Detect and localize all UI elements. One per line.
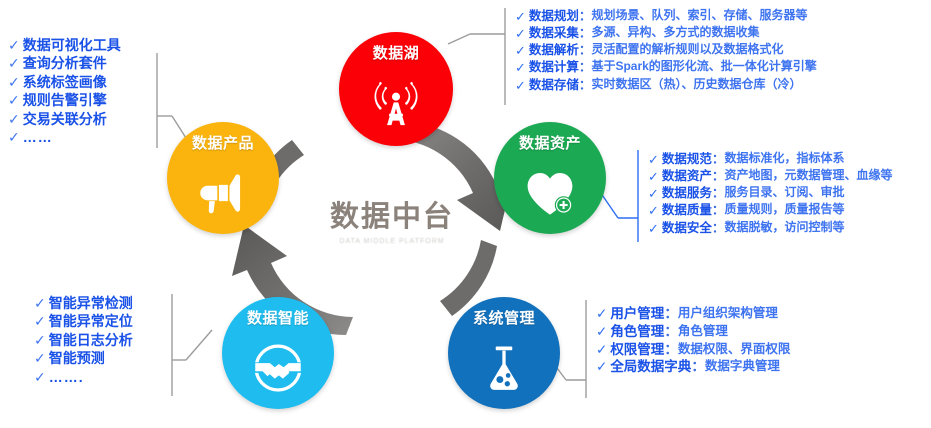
check-icon: ✓	[34, 331, 46, 349]
checklist-item-separator: ：	[579, 8, 592, 25]
check-icon: ✓	[8, 73, 20, 91]
check-icon: ✓	[648, 151, 659, 168]
checklist-item-label: 数据解析	[529, 42, 579, 59]
checklist-item-separator: ：	[712, 220, 725, 237]
checklist-item: ✓智能异常检测	[34, 294, 133, 312]
checklist-item-label: 数据规范	[662, 151, 712, 168]
checklist-item: ✓数据存储：实时数据区（热）、历史数据仓库（冷）	[515, 77, 817, 94]
checklist-item-label: 数据采集	[529, 25, 579, 42]
checklist-item-value: 数据权限、界面权限	[678, 341, 791, 358]
node-data-asset[interactable]: 数据资产	[494, 122, 606, 234]
checklist-item: ✓智能日志分析	[34, 331, 133, 349]
checklist-item: ✓数据质量：质量规则，质量报告等	[648, 202, 892, 219]
checklist-item-value: 质量规则，质量报告等	[724, 202, 844, 218]
check-icon: ✓	[648, 185, 659, 202]
checklist-item-value: 实时数据区（热）、历史数据仓库（冷）	[591, 77, 801, 93]
check-icon: ✓	[8, 91, 20, 109]
check-icon: ✓	[596, 305, 607, 323]
checklist-item-value: 资产地图，元数据管理、血缘等	[724, 168, 892, 184]
center-title: 数据中台	[292, 203, 492, 232]
check-icon: ✓	[515, 59, 526, 76]
checklist-item: ✓规则告警引擎	[8, 91, 121, 109]
flask-icon	[448, 326, 560, 409]
checklist-item: ✓数据可视化工具	[8, 36, 121, 54]
check-icon: ✓	[515, 77, 526, 94]
checklist-item-label: 系统标签画像	[23, 73, 107, 91]
broadcast-tower-icon	[339, 61, 453, 146]
check-icon: ✓	[8, 110, 20, 128]
checklist-item-label: 角色管理	[610, 323, 664, 341]
check-icon: ✓	[8, 36, 20, 54]
connector-product	[157, 53, 186, 148]
checklist-item-separator: ：	[691, 358, 705, 376]
checklist-item-label: 数据可视化工具	[23, 36, 121, 54]
megaphone-icon	[167, 151, 279, 234]
checklist-item: ✓智能预测	[34, 349, 133, 367]
checklist-item: ✓数据计算：基于Spark的图形化流、批一体化计算引擎	[515, 59, 817, 76]
checklist-item: ✓……	[8, 128, 121, 146]
checklist-item-value: 服务目录、订阅、审批	[724, 185, 844, 201]
checklist-item: ✓智能异常定位	[34, 312, 133, 330]
checklist-item-value: 数据脱敏，访问控制等	[724, 220, 844, 236]
node-label: 数据湖	[373, 46, 420, 61]
checklist-item: ✓角色管理：角色管理	[596, 323, 790, 341]
checklist-item-separator: ：	[712, 202, 725, 219]
handshake-icon	[222, 326, 334, 409]
node-label: 数据产品	[192, 136, 254, 151]
checklist-item-label: 权限管理	[610, 341, 664, 359]
checklist-item-separator: ：	[664, 305, 678, 323]
checklist-item-label: …….	[49, 368, 84, 386]
checklist-item-label: 查询分析套件	[23, 54, 107, 72]
text-block-asset: ✓数据规范：数据标准化，指标体系✓数据资产：资产地图，元数据管理、血缘等✓数据服…	[648, 151, 892, 237]
checklist-item: ✓数据安全：数据脱敏，访问控制等	[648, 220, 892, 237]
center-subtitle: DATA MIDDLE PLATFORM	[292, 238, 492, 245]
checklist-item: ✓交易关联分析	[8, 110, 121, 128]
checklist-item: ✓数据服务：服务目录、订阅、审批	[648, 185, 892, 202]
checklist-item: ✓用户管理：用户组织架构管理	[596, 305, 790, 323]
checklist-item-value: 数据标准化，指标体系	[724, 151, 844, 167]
checklist-item-value: 用户组织架构管理	[678, 305, 778, 322]
checklist-item-separator: ：	[712, 168, 725, 185]
checklist-item-label: 数据存储	[529, 77, 579, 94]
node-label: 数据智能	[247, 311, 309, 326]
checklist-item: ✓…….	[34, 368, 133, 386]
checklist-item-label: 数据计算	[529, 59, 579, 76]
checklist-item-label: 规则告警引擎	[23, 91, 107, 109]
node-data-product[interactable]: 数据产品	[167, 122, 279, 234]
node-label: 系统管理	[473, 311, 535, 326]
text-block-system: ✓用户管理：用户组织架构管理✓角色管理：角色管理✓权限管理：数据权限、界面权限✓…	[596, 305, 790, 376]
node-data-intelligence[interactable]: 数据智能	[222, 297, 334, 409]
text-block-product: ✓数据可视化工具✓查询分析套件✓系统标签画像✓规则告警引擎✓交易关联分析✓……	[8, 36, 121, 147]
node-label: 数据资产	[519, 136, 581, 151]
checklist-item-separator: ：	[579, 25, 592, 42]
checklist-item-value: 基于Spark的图形化流、批一体化计算引擎	[591, 59, 816, 75]
check-icon: ✓	[596, 341, 607, 359]
text-block-intelligence: ✓智能异常检测✓智能异常定位✓智能日志分析✓智能预测✓…….	[34, 294, 133, 386]
check-icon: ✓	[648, 202, 659, 219]
checklist-item-value: 灵活配置的解析规则以及数据格式化	[591, 42, 783, 58]
checklist-item-separator: ：	[664, 323, 678, 341]
checklist-item: ✓数据资产：资产地图，元数据管理、血缘等	[648, 168, 892, 185]
checklist-item: ✓数据解析：灵活配置的解析规则以及数据格式化	[515, 42, 817, 59]
checklist-item-label: 数据规划	[529, 8, 579, 25]
checklist-item-label: 全局数据字典	[610, 358, 691, 376]
checklist-item-label: 智能日志分析	[49, 331, 133, 349]
check-icon: ✓	[34, 294, 46, 312]
check-icon: ✓	[8, 54, 20, 72]
checklist-item-separator: ：	[579, 42, 592, 59]
node-system-management[interactable]: 系统管理	[448, 297, 560, 409]
center-label: 数据中台 DATA MIDDLE PLATFORM	[292, 203, 492, 245]
check-icon: ✓	[515, 25, 526, 42]
check-icon: ✓	[515, 42, 526, 59]
checklist-item: ✓系统标签画像	[8, 73, 121, 91]
checklist-item-label: 智能异常检测	[49, 294, 133, 312]
checklist-item-separator: ：	[712, 151, 725, 168]
checklist-item-separator: ：	[579, 59, 592, 76]
checklist-item-separator: ：	[579, 77, 592, 94]
node-data-lake[interactable]: 数据湖	[339, 32, 453, 146]
checklist-item-separator: ：	[664, 341, 678, 359]
text-block-lake: ✓数据规划：规划场景、队列、索引、存储、服务器等✓数据采集：多源、异构、多方式的…	[515, 8, 817, 94]
connector-lake	[448, 8, 505, 105]
checklist-item-separator: ：	[712, 185, 725, 202]
check-icon: ✓	[648, 168, 659, 185]
checklist-item-label: 数据安全	[662, 220, 712, 237]
checklist-item-value: 多源、异构、多方式的数据收集	[591, 25, 759, 41]
checklist-item: ✓权限管理：数据权限、界面权限	[596, 341, 790, 359]
check-icon: ✓	[648, 220, 659, 237]
checklist-item: ✓数据规划：规划场景、队列、索引、存储、服务器等	[515, 8, 817, 25]
checklist-item: ✓数据规范：数据标准化，指标体系	[648, 151, 892, 168]
checklist-item-label: 数据质量	[662, 202, 712, 219]
check-icon: ✓	[34, 368, 46, 386]
checklist-item-label: 智能预测	[49, 349, 105, 367]
check-icon: ✓	[8, 128, 20, 146]
checklist-item-label: 数据服务	[662, 185, 712, 202]
check-icon: ✓	[34, 349, 46, 367]
checklist-item: ✓全局数据字典：数据字典管理	[596, 358, 790, 376]
checklist-item-value: 规划场景、队列、索引、存储、服务器等	[591, 8, 807, 24]
checklist-item-label: 智能异常定位	[49, 312, 133, 330]
checklist-item-label: ……	[23, 128, 53, 146]
connector-intel	[172, 294, 212, 396]
checklist-item-label: 数据资产	[662, 168, 712, 185]
heart-plus-icon	[494, 151, 606, 234]
checklist-item: ✓数据采集：多源、异构、多方式的数据收集	[515, 25, 817, 42]
diagram-canvas: 数据中台 DATA MIDDLE PLATFORM 数据湖 数据资产	[0, 0, 931, 428]
checklist-item-label: 用户管理	[610, 305, 664, 323]
checklist-item-label: 交易关联分析	[23, 110, 107, 128]
check-icon: ✓	[596, 358, 607, 376]
checklist-item: ✓查询分析套件	[8, 54, 121, 72]
checklist-item-value: 数据字典管理	[705, 358, 780, 375]
check-icon: ✓	[596, 323, 607, 341]
checklist-item-value: 角色管理	[678, 323, 728, 340]
check-icon: ✓	[515, 8, 526, 25]
check-icon: ✓	[34, 312, 46, 330]
